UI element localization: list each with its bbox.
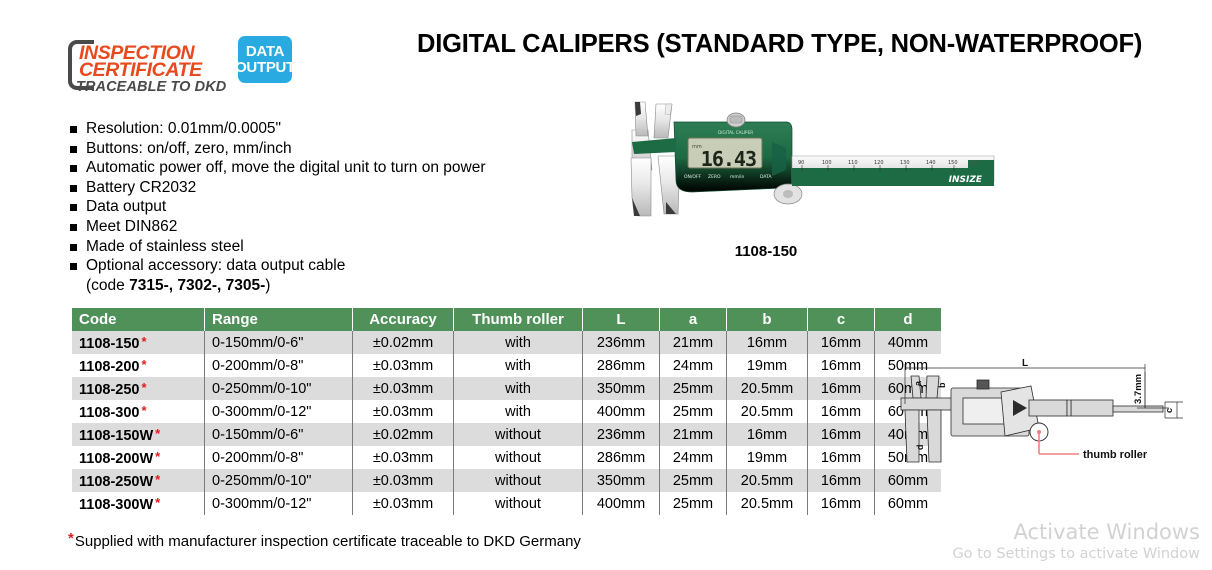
svg-text:mm/in: mm/in xyxy=(730,174,745,180)
cell-code: 1108-150* xyxy=(72,331,205,354)
feature-item: Made of stainless steel xyxy=(70,237,590,257)
cell-thumb: without xyxy=(454,469,583,492)
cell-d: 60mm xyxy=(875,469,942,492)
code-value: 1108-250 xyxy=(79,382,139,398)
cell-c: 16mm xyxy=(808,446,875,469)
cell-accuracy: ±0.03mm xyxy=(353,492,454,515)
feature-text: Optional accessory: data output cable xyxy=(86,256,345,276)
accessory-prefix: (code xyxy=(86,277,129,294)
cell-l: 350mm xyxy=(583,377,660,400)
cell-l: 286mm xyxy=(583,354,660,377)
svg-text:100: 100 xyxy=(822,160,832,166)
svg-text:DATA: DATA xyxy=(760,174,773,180)
cell-a: 21mm xyxy=(660,331,727,354)
feature-text: Battery CR2032 xyxy=(86,178,196,198)
cell-c: 16mm xyxy=(808,469,875,492)
svg-text:90: 90 xyxy=(798,160,804,166)
cell-a: 21mm xyxy=(660,423,727,446)
table-row: 1108-250W* 0-250mm/0-10" ±0.03mm without… xyxy=(72,469,941,492)
cell-code: 1108-250* xyxy=(72,377,205,400)
feature-item: Automatic power off, move the digital un… xyxy=(70,158,590,178)
product-caption: 1108-150 xyxy=(596,243,936,260)
feature-text: Resolution: 0.01mm/0.0005" xyxy=(86,119,281,139)
footnote-star: * xyxy=(155,472,160,487)
cell-l: 236mm xyxy=(583,423,660,446)
footnote-star: * xyxy=(141,334,146,349)
cell-a: 24mm xyxy=(660,354,727,377)
cell-d: 60mm xyxy=(875,492,942,515)
cell-accuracy: ±0.03mm xyxy=(353,446,454,469)
feature-text: Data output xyxy=(86,197,166,217)
column-header-thumb-roller: Thumb roller xyxy=(454,308,583,331)
table-row: 1108-200W* 0-200mm/0-8" ±0.03mm without … xyxy=(72,446,941,469)
bullet-icon xyxy=(70,204,77,211)
cell-range: 0-200mm/0-8" xyxy=(205,354,353,377)
svg-text:ON/OFF: ON/OFF xyxy=(684,174,702,180)
footnote-star: * xyxy=(155,495,160,510)
footnote-star: * xyxy=(141,380,146,395)
cell-thumb: with xyxy=(454,377,583,400)
cell-l: 400mm xyxy=(583,492,660,515)
specification-table: Code Range Accuracy Thumb roller L a b c… xyxy=(72,308,941,515)
caliper-product-photo: DIGITAL CALIPER mm 16.43 ON/OFF ZERO mm/… xyxy=(596,98,996,233)
bullet-icon xyxy=(70,185,77,192)
column-header-b: b xyxy=(727,308,808,331)
footnote-star: * xyxy=(155,426,160,441)
cell-l: 350mm xyxy=(583,469,660,492)
cell-b: 19mm xyxy=(727,446,808,469)
footnote-star: * xyxy=(141,403,146,418)
feature-item: Buttons: on/off, zero, mm/inch xyxy=(70,139,590,159)
accessory-codes: 7315-, 7302-, 7305- xyxy=(129,277,265,294)
cell-c: 16mm xyxy=(808,492,875,515)
cell-accuracy: ±0.02mm xyxy=(353,331,454,354)
dimension-drawing: L 3.7mm c a b d thumb roller xyxy=(893,358,1208,466)
table-row: 1108-250* 0-250mm/0-10" ±0.03mm with 350… xyxy=(72,377,941,400)
bullet-icon xyxy=(70,146,77,153)
code-value: 1108-150 xyxy=(79,336,139,352)
dimension-diagram: L 3.7mm c a b d thumb roller xyxy=(893,358,1208,466)
table-footnote: *Supplied with manufacturer inspection c… xyxy=(68,530,581,550)
cell-b: 20.5mm xyxy=(727,400,808,423)
column-header-d: d xyxy=(875,308,942,331)
feature-text: Buttons: on/off, zero, mm/inch xyxy=(86,139,292,159)
column-header-a: a xyxy=(660,308,727,331)
code-value: 1108-250W xyxy=(79,474,153,490)
data-output-badge-line1: DATA xyxy=(246,44,284,60)
bullet-icon xyxy=(70,244,77,251)
cell-l: 236mm xyxy=(583,331,660,354)
page-title: DIGITAL CALIPERS (STANDARD TYPE, NON-WAT… xyxy=(417,30,1142,59)
svg-text:130: 130 xyxy=(900,160,910,166)
bullet-icon xyxy=(70,263,77,270)
label-thickness: 3.7mm xyxy=(1133,374,1144,404)
activate-windows-watermark: Activate Windows Go to Settings to activ… xyxy=(952,520,1200,564)
feature-text: Made of stainless steel xyxy=(86,237,244,257)
cell-code: 1108-200W* xyxy=(72,446,205,469)
feature-list: Resolution: 0.01mm/0.0005" Buttons: on/o… xyxy=(70,119,590,295)
feature-item: Battery CR2032 xyxy=(70,178,590,198)
svg-text:110: 110 xyxy=(848,160,858,166)
cell-range: 0-250mm/0-10" xyxy=(205,377,353,400)
bullet-icon xyxy=(70,224,77,231)
code-value: 1108-200 xyxy=(79,359,139,375)
cell-thumb: with xyxy=(454,354,583,377)
cell-range: 0-300mm/0-12" xyxy=(205,492,353,515)
svg-text:mm: mm xyxy=(970,160,980,166)
thumb-roller-callout-label: thumb roller xyxy=(1083,449,1148,461)
cell-a: 24mm xyxy=(660,446,727,469)
label-c: c xyxy=(1164,408,1174,413)
watermark-subtitle: Go to Settings to activate Window xyxy=(952,545,1200,564)
cell-accuracy: ±0.03mm xyxy=(353,377,454,400)
cell-b: 20.5mm xyxy=(727,492,808,515)
svg-text:DIGITAL CALIPER: DIGITAL CALIPER xyxy=(718,130,753,135)
cell-a: 25mm xyxy=(660,469,727,492)
cell-thumb: with xyxy=(454,400,583,423)
inspection-certificate-logo: INSPECTION CERTIFICATE TRACEABLE TO DKD xyxy=(68,38,228,96)
cell-range: 0-250mm/0-10" xyxy=(205,469,353,492)
cell-b: 19mm xyxy=(727,354,808,377)
table-row: 1108-200* 0-200mm/0-8" ±0.03mm with 286m… xyxy=(72,354,941,377)
feature-text: Automatic power off, move the digital un… xyxy=(86,158,486,178)
cell-code: 1108-300W* xyxy=(72,492,205,515)
bullet-icon xyxy=(70,126,77,133)
column-header-c: c xyxy=(808,308,875,331)
cell-code: 1108-250W* xyxy=(72,469,205,492)
label-L: L xyxy=(1022,358,1028,369)
cell-a: 25mm xyxy=(660,400,727,423)
watermark-title: Activate Windows xyxy=(952,520,1200,545)
bullet-icon xyxy=(70,165,77,172)
code-value: 1108-200W xyxy=(79,451,153,467)
table-row: 1108-150* 0-150mm/0-6" ±0.02mm with 236m… xyxy=(72,331,941,354)
cell-b: 16mm xyxy=(727,331,808,354)
data-output-badge-line2: OUTPUT xyxy=(235,60,295,76)
code-value: 1108-150W xyxy=(79,428,153,444)
cell-l: 286mm xyxy=(583,446,660,469)
label-d: d xyxy=(915,445,925,451)
data-output-badge: DATA OUTPUT xyxy=(238,36,292,83)
cell-code: 1108-300* xyxy=(72,400,205,423)
code-value: 1108-300 xyxy=(79,405,139,421)
column-header-range: Range xyxy=(205,308,353,331)
cell-l: 400mm xyxy=(583,400,660,423)
cell-a: 25mm xyxy=(660,492,727,515)
cell-c: 16mm xyxy=(808,331,875,354)
table-row: 1108-300W* 0-300mm/0-12" ±0.03mm without… xyxy=(72,492,941,515)
cell-c: 16mm xyxy=(808,377,875,400)
cell-accuracy: ±0.03mm xyxy=(353,469,454,492)
cell-b: 16mm xyxy=(727,423,808,446)
cell-d: 40mm xyxy=(875,331,942,354)
cell-thumb: without xyxy=(454,492,583,515)
cell-accuracy: ±0.03mm xyxy=(353,400,454,423)
feature-item: Data output xyxy=(70,197,590,217)
accessory-suffix: ) xyxy=(265,277,270,294)
cell-c: 16mm xyxy=(808,354,875,377)
feature-item: Resolution: 0.01mm/0.0005" xyxy=(70,119,590,139)
cell-code: 1108-200* xyxy=(72,354,205,377)
cell-thumb: without xyxy=(454,446,583,469)
footnote-star-icon: * xyxy=(68,530,74,547)
cell-accuracy: ±0.02mm xyxy=(353,423,454,446)
footnote-star: * xyxy=(141,357,146,372)
feature-item: Optional accessory: data output cable xyxy=(70,256,590,276)
svg-text:120: 120 xyxy=(874,160,884,166)
feature-item: Meet DIN862 xyxy=(70,217,590,237)
cell-thumb: without xyxy=(454,423,583,446)
svg-text:16.43: 16.43 xyxy=(701,147,756,171)
feature-accessory-codes: (code 7315-, 7302-, 7305-) xyxy=(70,276,590,296)
cell-range: 0-200mm/0-8" xyxy=(205,446,353,469)
label-b: b xyxy=(937,382,947,388)
cell-accuracy: ±0.03mm xyxy=(353,354,454,377)
cell-b: 20.5mm xyxy=(727,377,808,400)
footnote-star: * xyxy=(155,449,160,464)
cell-code: 1108-150W* xyxy=(72,423,205,446)
caliper-illustration: DIGITAL CALIPER mm 16.43 ON/OFF ZERO mm/… xyxy=(596,98,996,233)
table-row: 1108-150W* 0-150mm/0-6" ±0.02mm without … xyxy=(72,423,941,446)
table-header-row: Code Range Accuracy Thumb roller L a b c… xyxy=(72,308,941,331)
cell-range: 0-150mm/0-6" xyxy=(205,331,353,354)
certificate-logo-line3: TRACEABLE TO DKD xyxy=(76,79,226,95)
cell-c: 16mm xyxy=(808,400,875,423)
svg-text:140: 140 xyxy=(926,160,936,166)
footnote-text: Supplied with manufacturer inspection ce… xyxy=(75,533,581,550)
table-row: 1108-300* 0-300mm/0-12" ±0.03mm with 400… xyxy=(72,400,941,423)
cell-a: 25mm xyxy=(660,377,727,400)
cell-b: 20.5mm xyxy=(727,469,808,492)
code-value: 1108-300W xyxy=(79,497,153,513)
svg-text:150: 150 xyxy=(948,160,958,166)
svg-text:ZERO: ZERO xyxy=(708,174,721,180)
column-header-accuracy: Accuracy xyxy=(353,308,454,331)
svg-text:INSIZE: INSIZE xyxy=(949,175,983,185)
cell-thumb: with xyxy=(454,331,583,354)
column-header-l: L xyxy=(583,308,660,331)
column-header-code: Code xyxy=(72,308,205,331)
cell-range: 0-150mm/0-6" xyxy=(205,423,353,446)
cell-c: 16mm xyxy=(808,423,875,446)
feature-text: Meet DIN862 xyxy=(86,217,177,237)
cell-range: 0-300mm/0-12" xyxy=(205,400,353,423)
